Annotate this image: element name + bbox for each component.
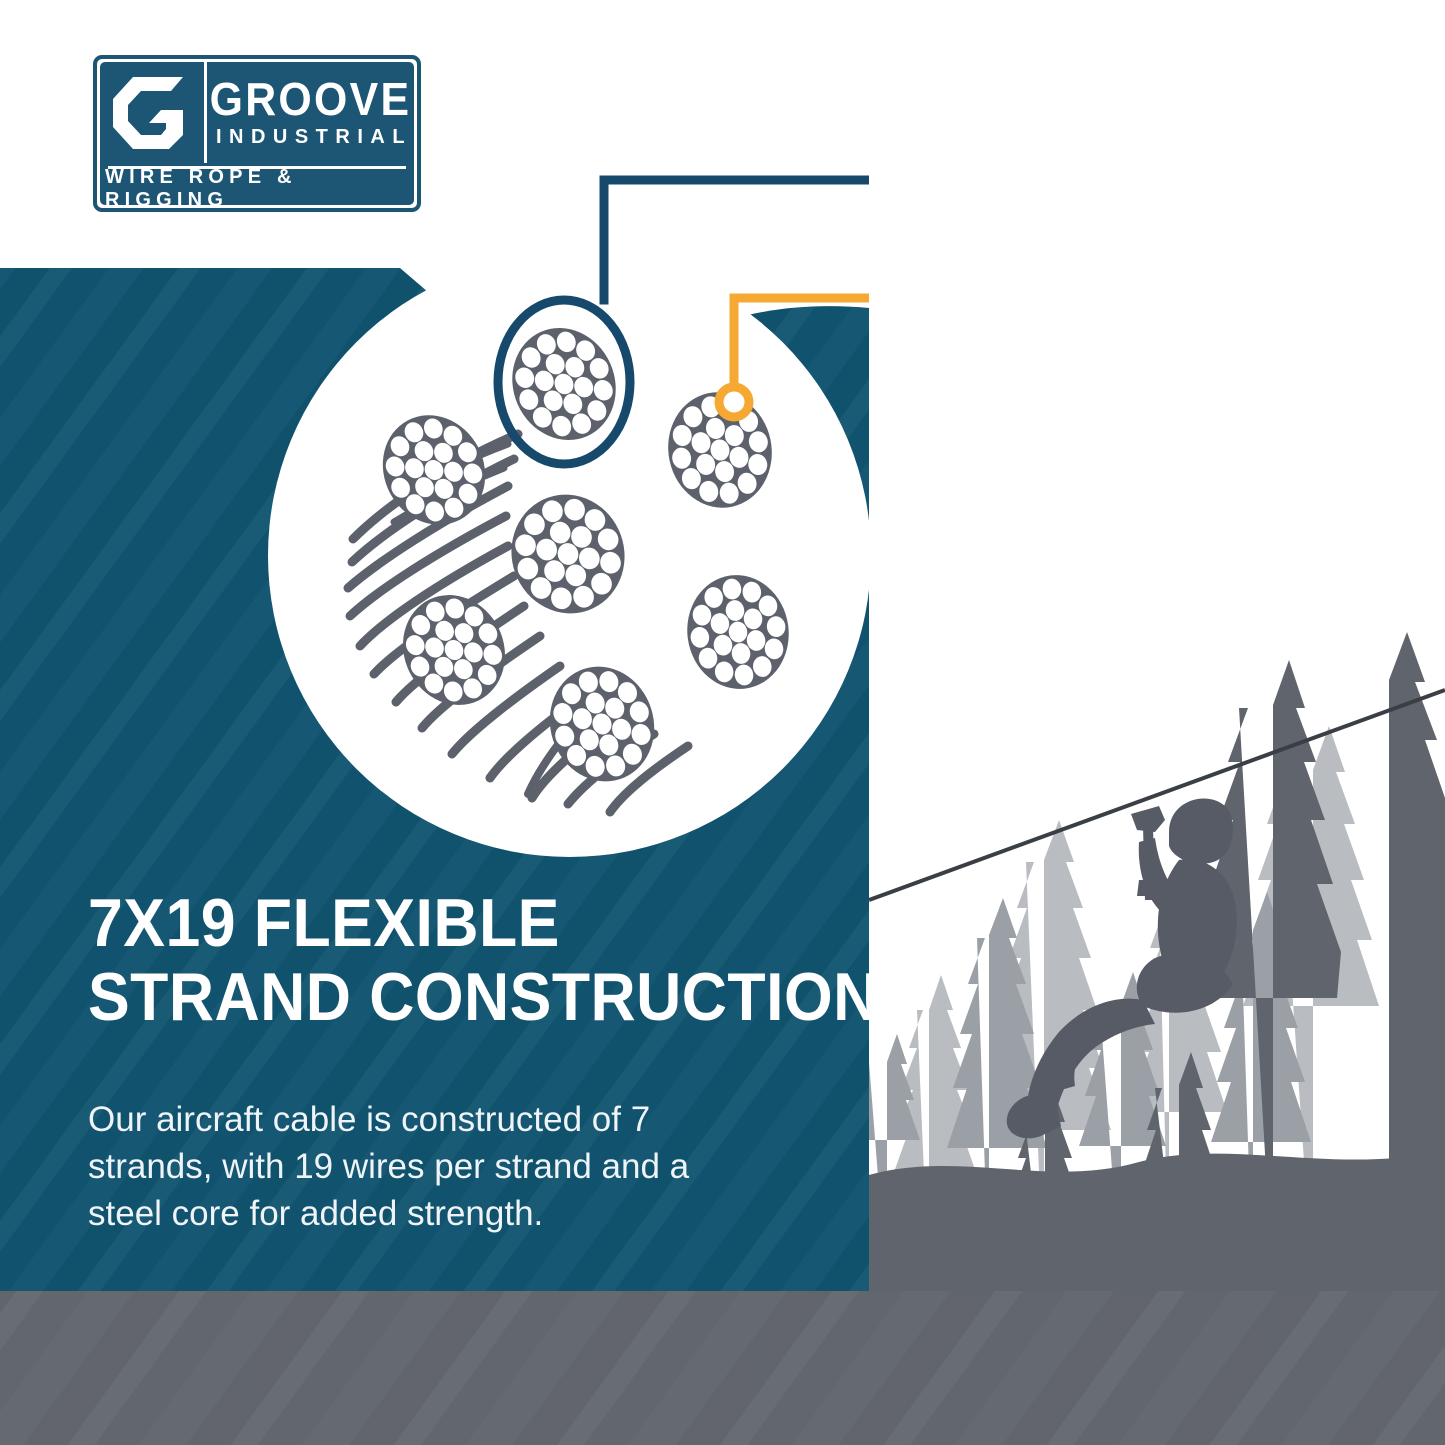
headline-line-2: STRAND CONSTRUCTION xyxy=(88,960,769,1034)
logo-top-row: GROOVE INDUSTRIAL xyxy=(100,62,414,163)
wire-rope-diagram xyxy=(268,254,871,857)
groove-g-mark-icon xyxy=(100,62,207,163)
infographic-canvas: GROOVE INDUSTRIAL WIRE ROPE & RIGGING xyxy=(0,0,1445,1445)
logo-brand-name: GROOVE xyxy=(210,76,412,122)
logo-inner-fill: GROOVE INDUSTRIAL WIRE ROPE & RIGGING xyxy=(100,62,414,205)
zipline-scene xyxy=(869,0,1445,1291)
body-copy: Our aircraft cable is constructed of 7 s… xyxy=(88,1096,753,1237)
headline-block: 7X19 FLEXIBLE STRAND CONSTRUCTION xyxy=(88,886,828,1034)
logo-tagline: WIRE ROPE & RIGGING xyxy=(100,172,414,205)
logo-brand-sub: INDUSTRIAL xyxy=(209,125,412,149)
headline-line-1: 7X19 FLEXIBLE xyxy=(88,886,769,960)
brand-logo: GROOVE INDUSTRIAL WIRE ROPE & RIGGING xyxy=(93,55,421,212)
footer-band xyxy=(0,1291,1445,1445)
footer-wave-texture xyxy=(0,1291,1445,1445)
logo-wordmark: GROOVE INDUSTRIAL xyxy=(207,62,414,163)
